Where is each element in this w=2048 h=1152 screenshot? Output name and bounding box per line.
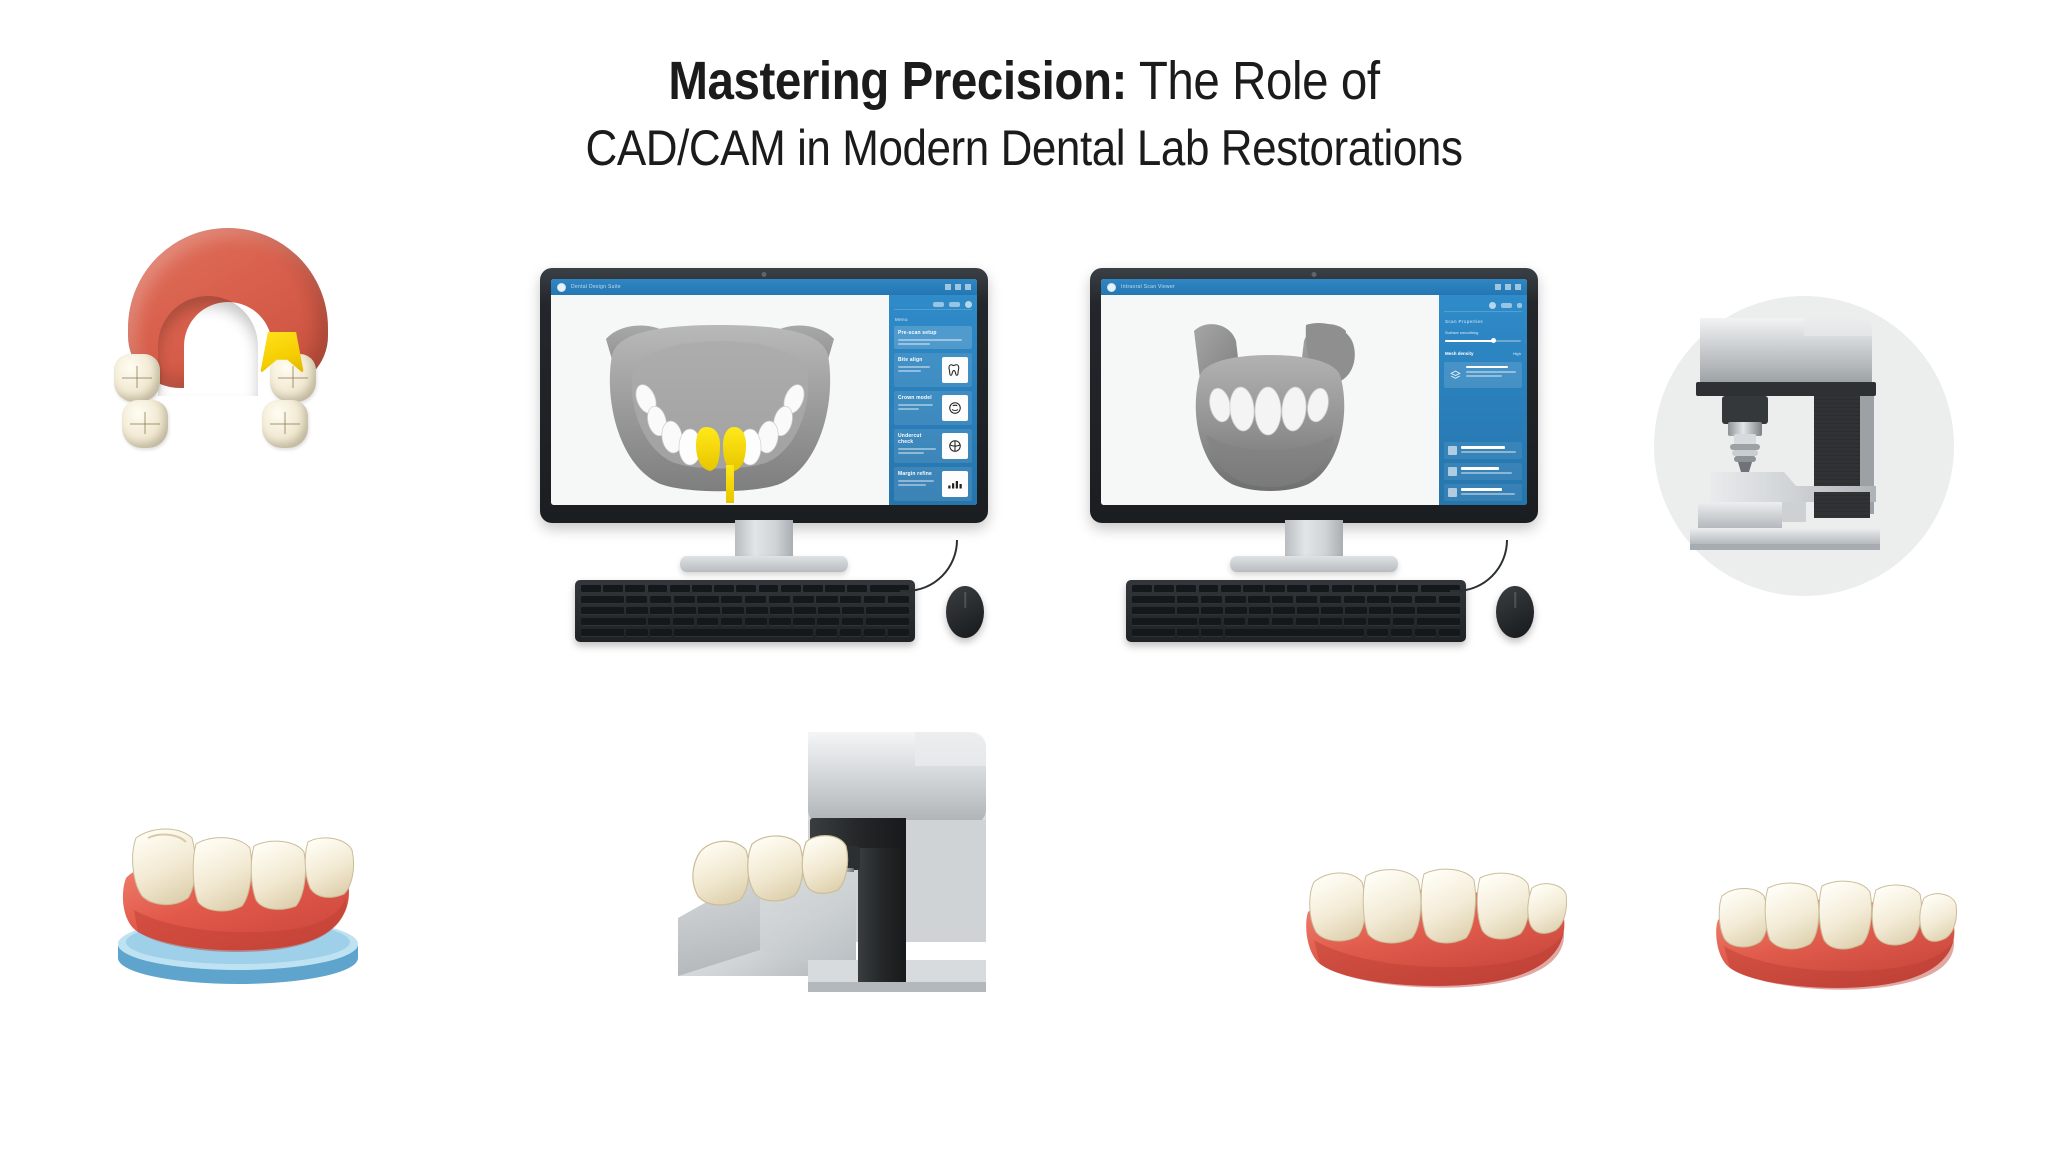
monitor-screen[interactable]: Dental Design Suite (551, 279, 977, 505)
page-title: Mastering Precision: The Role of CAD/CAM… (0, 46, 2048, 181)
layer-icon (1448, 488, 1457, 497)
card-title: Bite align (898, 357, 938, 363)
monitor-bezel: Intraoral Scan Viewer (1090, 268, 1538, 523)
sidebar-card[interactable]: Undercut check (894, 429, 972, 463)
card-line (898, 448, 936, 450)
minimize-icon[interactable] (1495, 284, 1501, 290)
bridge-render (1710, 872, 1960, 1000)
sidebar-heading: Menu (894, 314, 972, 322)
window-buttons[interactable] (945, 284, 971, 290)
list-item[interactable] (1444, 484, 1522, 501)
jaw-scan-render (551, 295, 889, 505)
cad-scan-monitor[interactable]: Intraoral Scan Viewer (1090, 268, 1538, 578)
app-logo-icon (557, 283, 566, 292)
list-item-title (1461, 446, 1505, 449)
globe-icon[interactable] (1489, 302, 1496, 309)
card-title: Undercut check (898, 433, 938, 445)
slider-track[interactable] (1445, 338, 1521, 343)
card-line (898, 370, 921, 372)
share-icon[interactable] (1501, 303, 1512, 308)
card-text (1466, 366, 1518, 377)
card-text: Pre-scan setup (898, 330, 968, 345)
card-line (898, 408, 919, 410)
list-item-title (1461, 488, 1502, 491)
keyboard-row[interactable] (1132, 607, 1460, 615)
keyboard-row[interactable] (1132, 585, 1460, 593)
list-item-text (1461, 488, 1518, 495)
list-item-text (1461, 446, 1518, 453)
monitor-stand-base (1230, 556, 1398, 572)
tooth-groove (270, 423, 299, 425)
margin-icon[interactable] (942, 471, 968, 497)
gum-inner-shadow (158, 296, 258, 396)
keyboard-icon[interactable] (1126, 580, 1466, 642)
keyboard-row[interactable] (581, 596, 909, 604)
keyboard-row[interactable] (1132, 618, 1460, 626)
slider-label: Surface smoothing (1445, 330, 1521, 335)
gum-model-blue-base (108, 820, 368, 995)
card-text: Crown model (898, 395, 938, 410)
card-text: Undercut check (898, 433, 938, 454)
list-item-text (1461, 467, 1518, 474)
rotate-model-icon[interactable] (942, 433, 968, 459)
sidebar-toolbar[interactable] (894, 299, 972, 310)
field-row[interactable]: Mesh density High (1444, 349, 1522, 358)
sidebar-heading: Scan Properties (1444, 316, 1522, 324)
field-label: Mesh density (1445, 351, 1474, 356)
card-line (898, 339, 962, 341)
card-text: Margin refine (898, 471, 938, 486)
monitor-stand-base (680, 556, 848, 572)
card-line (898, 404, 933, 406)
cnc-milling-machine (660, 720, 1060, 1040)
viewport-3d[interactable] (1101, 295, 1439, 505)
milling-machine-icon (1654, 296, 1954, 596)
keyboard-row[interactable] (581, 585, 909, 593)
dental-bridge-right (1710, 872, 1960, 1000)
cnc-milling-render (660, 720, 1060, 1040)
keyboard-row[interactable] (1132, 629, 1460, 637)
card-line (898, 452, 924, 454)
close-icon[interactable] (1515, 284, 1521, 290)
webcam-icon (762, 272, 767, 277)
card-title: Pre-scan setup (898, 330, 968, 336)
card-line (898, 484, 926, 486)
card-title: Crown model (898, 395, 938, 401)
title-line-1: Mastering Precision: The Role of (123, 46, 1925, 116)
monitor-bezel: Dental Design Suite (540, 268, 988, 523)
app-body: Scan Properties Surface smoothing Mesh d… (1101, 295, 1527, 505)
cable-icon (1450, 540, 1508, 592)
sidebar-card[interactable]: Pre-scan setup (894, 326, 972, 349)
viewport-3d[interactable] (551, 295, 889, 505)
preview-card[interactable] (1444, 362, 1522, 388)
tooth-groove (130, 423, 159, 425)
app-title-text: Dental Design Suite (571, 284, 940, 290)
layer-icon (1448, 446, 1457, 455)
monitor-screen[interactable]: Intraoral Scan Viewer (1101, 279, 1527, 505)
keyboard-row[interactable] (581, 618, 909, 626)
card-line (898, 343, 930, 345)
title-rest: The Role of (1127, 51, 1380, 111)
mouse-icon[interactable] (946, 586, 984, 638)
maximize-icon[interactable] (1505, 284, 1511, 290)
card-line (898, 366, 930, 368)
sidebar-card[interactable]: Margin refine (894, 467, 972, 501)
list-item[interactable] (1444, 442, 1522, 459)
cable-icon (900, 540, 958, 592)
webcam-icon (1312, 272, 1317, 277)
sidebar-card[interactable]: Bite align (894, 353, 972, 387)
tooth-groove (122, 377, 151, 379)
keyboard-icon[interactable] (575, 580, 915, 642)
title-line-2: CAD/CAM in Modern Dental Lab Restoration… (123, 116, 1925, 181)
layer-icon (1448, 366, 1462, 384)
sidebar-card[interactable]: Crown model (894, 391, 972, 425)
upper-arch-wax-model (108, 228, 358, 458)
molar-tooth (262, 400, 308, 448)
cad-design-monitor[interactable]: Dental Design Suite (540, 268, 988, 578)
slider-group[interactable]: Surface smoothing (1444, 328, 1522, 345)
molar-tooth (114, 354, 160, 402)
milling-machine-render (1654, 296, 1954, 596)
card-title: Margin refine (898, 471, 938, 477)
dental-bridge-left (1300, 860, 1570, 1000)
crown-icon[interactable] (942, 395, 968, 421)
jaw-scan-render (1101, 295, 1439, 505)
keyboard-row[interactable] (1132, 596, 1460, 604)
layer-icon (1448, 467, 1457, 476)
tooth-scan-icon[interactable] (942, 357, 968, 383)
gum-model-render (108, 820, 368, 995)
bridge-render (1300, 860, 1570, 1000)
keyboard-row[interactable] (581, 607, 909, 615)
molar-tooth (122, 400, 168, 448)
app-logo-icon (1107, 283, 1116, 292)
window-buttons[interactable] (1495, 284, 1521, 290)
field-value: High (1513, 351, 1521, 356)
scan-sidebar[interactable]: Scan Properties Surface smoothing Mesh d… (1439, 295, 1527, 505)
cad-sidebar[interactable]: Menu Pre-scan setup Bite align (889, 295, 977, 505)
view-cube-icon[interactable] (933, 302, 944, 307)
list-item[interactable] (1444, 463, 1522, 480)
zoom-icon[interactable] (949, 302, 960, 307)
app-titlebar: Dental Design Suite (551, 279, 977, 295)
app-title-text: Intraoral Scan Viewer (1121, 284, 1490, 290)
maximize-icon[interactable] (955, 284, 961, 290)
card-text: Bite align (898, 357, 938, 372)
tooth-groove (278, 377, 307, 379)
mouse-icon[interactable] (1496, 586, 1534, 638)
keyboard-row[interactable] (581, 629, 909, 637)
card-line (898, 480, 934, 482)
slider-thumb[interactable] (1491, 338, 1496, 343)
slider-fill (1445, 340, 1492, 342)
app-body: Menu Pre-scan setup Bite align (551, 295, 977, 505)
close-icon[interactable] (965, 284, 971, 290)
title-emphasis: Mastering Precision: (668, 51, 1127, 111)
lock-icon[interactable] (1517, 303, 1522, 308)
list-item-title (1461, 467, 1499, 470)
app-titlebar: Intraoral Scan Viewer (1101, 279, 1527, 295)
settings-icon[interactable] (965, 301, 972, 308)
sidebar-toolbar[interactable] (1444, 299, 1522, 312)
minimize-icon[interactable] (945, 284, 951, 290)
